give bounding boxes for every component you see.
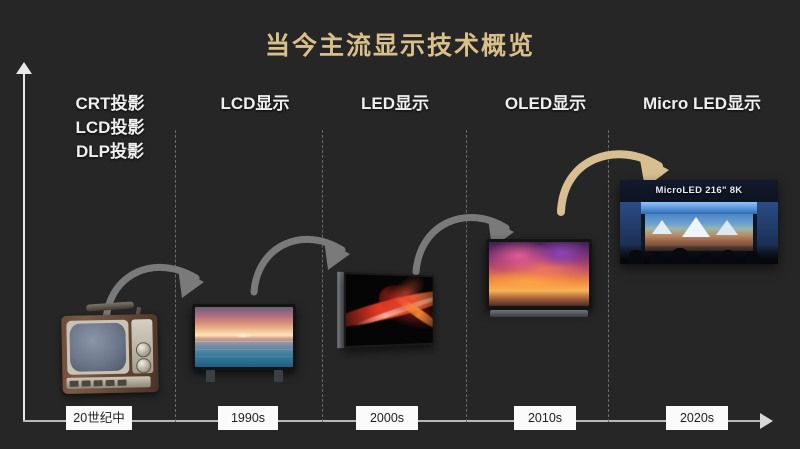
device-oled-television xyxy=(486,239,592,331)
led-wall-panel xyxy=(344,272,434,348)
crt-wood-cabinet xyxy=(61,314,159,394)
lcd-screen-seascape-image xyxy=(195,307,293,367)
stage-label-led: LED显示 xyxy=(330,92,460,116)
stage-label-led-line1: LED显示 xyxy=(330,92,460,116)
booth-person xyxy=(629,250,643,264)
crt-button xyxy=(70,380,79,386)
stage-divider-3 xyxy=(466,130,467,422)
stage-label-oled-line1: OLED显示 xyxy=(478,92,613,116)
stage-divider-4 xyxy=(608,130,609,422)
booth-audience xyxy=(620,246,778,264)
era-label-lcd: 1990s xyxy=(218,406,278,430)
era-label-crt: 20世纪中 xyxy=(66,406,132,430)
era-label-microled: 2020s xyxy=(666,406,728,430)
led-wall-screen-artwork xyxy=(346,274,433,346)
era-label-oled: 2010s xyxy=(514,406,576,430)
slide-canvas: 当今主流显示技术概览 CRT投影 LCD投影 DLP投影 LCD显示 LED显示… xyxy=(0,0,800,449)
era-label-led: 2000s xyxy=(356,406,418,430)
stage-label-oled: OLED显示 xyxy=(478,92,613,116)
oled-tv-soundbar-stand xyxy=(490,310,588,317)
page-title: 当今主流显示技术概览 xyxy=(0,26,800,62)
lcd-screen-sun-glow xyxy=(234,333,252,338)
crt-button xyxy=(94,380,103,386)
booth-person xyxy=(746,251,759,264)
booth-screen-mountain xyxy=(716,220,738,235)
crt-antenna-bar xyxy=(86,301,134,311)
microled-banner: MicroLED 216" 8K xyxy=(620,180,778,202)
stage-divider-2 xyxy=(322,130,323,422)
microled-banner-text: MicroLED 216" 8K xyxy=(656,185,743,196)
lcd-tv-leg-right xyxy=(274,370,283,382)
vertical-axis-line xyxy=(23,70,25,422)
oled-screen-sunset-image xyxy=(489,242,589,306)
lcd-tv-screen xyxy=(195,307,293,367)
oled-tv-screen xyxy=(489,242,589,306)
lcd-screen-water-line xyxy=(195,349,293,350)
lcd-screen-water-line xyxy=(195,356,293,357)
booth-person xyxy=(650,252,663,264)
device-led-video-wall xyxy=(344,272,434,348)
timeline-axis-arrowhead xyxy=(760,413,773,429)
stage-label-crt: CRT投影 LCD投影 DLP投影 xyxy=(40,92,180,164)
stage-label-crt-line2: LCD投影 xyxy=(40,116,180,140)
vertical-axis-arrowhead xyxy=(16,62,32,74)
booth-person xyxy=(672,248,688,264)
device-lcd-television xyxy=(192,304,296,390)
crt-screen xyxy=(69,323,126,372)
stage-label-microled-line1: Micro LED显示 xyxy=(614,92,790,116)
oled-tv-frame xyxy=(486,239,592,309)
crt-button xyxy=(118,379,127,385)
crt-button-strip xyxy=(66,376,150,389)
crt-button xyxy=(106,379,115,385)
stage-label-microled: Micro LED显示 xyxy=(614,92,790,116)
booth-person xyxy=(721,250,735,264)
stage-divider-1 xyxy=(175,130,176,422)
device-crt-television xyxy=(62,303,162,395)
booth-light-band xyxy=(641,202,758,214)
booth-screen-mountain xyxy=(682,217,710,237)
device-microled-booth-photo: MicroLED 216" 8K xyxy=(620,180,778,264)
stage-label-lcd: LCD显示 xyxy=(190,92,320,116)
stage-label-crt-line1: CRT投影 xyxy=(40,92,180,116)
crt-button xyxy=(82,380,91,386)
stage-label-lcd-line1: LCD显示 xyxy=(190,92,320,116)
booth-person xyxy=(699,253,712,264)
booth-screen-mountain xyxy=(652,220,672,234)
lcd-tv-frame xyxy=(192,304,296,370)
lcd-screen-horizon-line xyxy=(195,341,293,342)
crt-screen-bezel xyxy=(66,320,129,375)
lcd-tv-leg-left xyxy=(206,370,215,382)
stage-label-crt-line3: DLP投影 xyxy=(40,140,180,164)
